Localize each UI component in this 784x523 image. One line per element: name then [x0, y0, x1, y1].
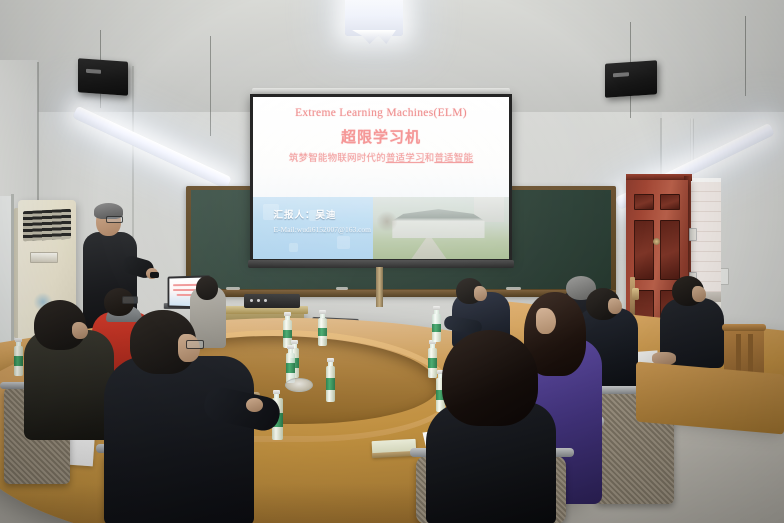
bottle-body — [14, 346, 23, 376]
glass-ashtray[interactable] — [285, 378, 313, 392]
chalk-piece — [336, 287, 348, 290]
bottle-body — [318, 318, 327, 346]
attendee-7-head — [442, 330, 538, 426]
slide-title-chinese: 超限学习机 — [253, 126, 509, 147]
subtitle-mid: 和 — [425, 153, 435, 164]
photo-tree — [376, 211, 398, 232]
slide-campus-photo — [373, 197, 509, 259]
bottle-body — [326, 366, 335, 402]
presenter-glasses — [106, 216, 123, 223]
speaker-brand-label — [86, 69, 101, 73]
door-peephole — [653, 238, 660, 245]
av-control-box[interactable] — [244, 294, 300, 308]
subtitle-prefix: 筑梦智能物联网时代的 — [289, 153, 386, 164]
bottle-label — [432, 324, 441, 333]
water-bottle[interactable] — [326, 358, 335, 402]
door-panel — [660, 194, 680, 210]
slide-decoration-square — [337, 236, 350, 249]
attendee-2-face — [72, 322, 88, 339]
slide-subtitle: 筑梦智能物联网时代的普适学习和普适智能 — [253, 150, 509, 164]
screen-support-post — [376, 267, 383, 307]
door-panel — [634, 220, 654, 280]
side-table-right — [636, 362, 784, 435]
photo-walkway — [411, 238, 446, 259]
speaker-brand-label — [613, 72, 629, 76]
bottle-label — [318, 328, 327, 337]
attendee-10-face — [692, 286, 706, 302]
door-panel — [634, 194, 654, 210]
wooden-chair-top-rail — [722, 324, 766, 331]
led-indicator — [250, 299, 253, 302]
led-indicator — [257, 299, 260, 302]
slide-presenter-name: 汇报人：吴迪 — [273, 207, 336, 221]
bottle-label — [326, 378, 335, 390]
slide-title-english: Extreme Learning Machines(ELM) — [253, 107, 509, 119]
attendee-4-head — [196, 276, 218, 300]
photo-traditional-building — [392, 209, 484, 239]
seminar-room-photo: Extreme Learning Machines(ELM) 超限学习机 筑梦智… — [0, 0, 784, 523]
water-bottle[interactable] — [286, 345, 295, 383]
air-conditioner-vent — [23, 209, 71, 242]
wall-speaker-left — [78, 58, 128, 95]
air-conditioner-display — [30, 252, 58, 263]
chalk-piece — [506, 287, 521, 290]
attendee-5-face — [474, 286, 487, 301]
chalk-piece — [226, 287, 240, 290]
subtitle-link-1: 普适学习 — [386, 153, 425, 164]
door-handle[interactable] — [632, 288, 639, 300]
led-indicator — [264, 299, 267, 302]
attendee-1-hand — [246, 398, 263, 412]
light-hanger-wire — [745, 16, 746, 96]
presentation-clicker[interactable] — [150, 272, 159, 278]
water-bottle[interactable] — [432, 306, 441, 342]
attendee-6-face — [536, 308, 556, 334]
bottle-body — [432, 314, 441, 342]
attendee-1-glasses — [186, 340, 204, 349]
projection-screen: Extreme Learning Machines(ELM) 超限学习机 筑梦智… — [253, 97, 509, 259]
bottle-label — [14, 356, 23, 366]
water-bottle[interactable] — [318, 310, 327, 346]
door-strike-plate — [689, 228, 697, 241]
water-bottle[interactable] — [14, 338, 23, 376]
light-hanger-wire — [210, 36, 211, 136]
attendee-3-glasses — [122, 296, 138, 304]
bottle-label — [428, 358, 437, 368]
attendee-8-face — [608, 298, 622, 314]
attendee-1-body — [104, 356, 254, 523]
bottle-label — [286, 363, 295, 373]
subtitle-link-2: 普适智能 — [434, 153, 473, 164]
wall-speaker-right — [605, 60, 657, 98]
slide-presenter-email: E-Mail:wudi6152007@163.com — [273, 225, 371, 234]
slide-decoration-square — [289, 243, 298, 252]
bottle-label — [283, 330, 292, 339]
door-panel — [660, 220, 680, 280]
